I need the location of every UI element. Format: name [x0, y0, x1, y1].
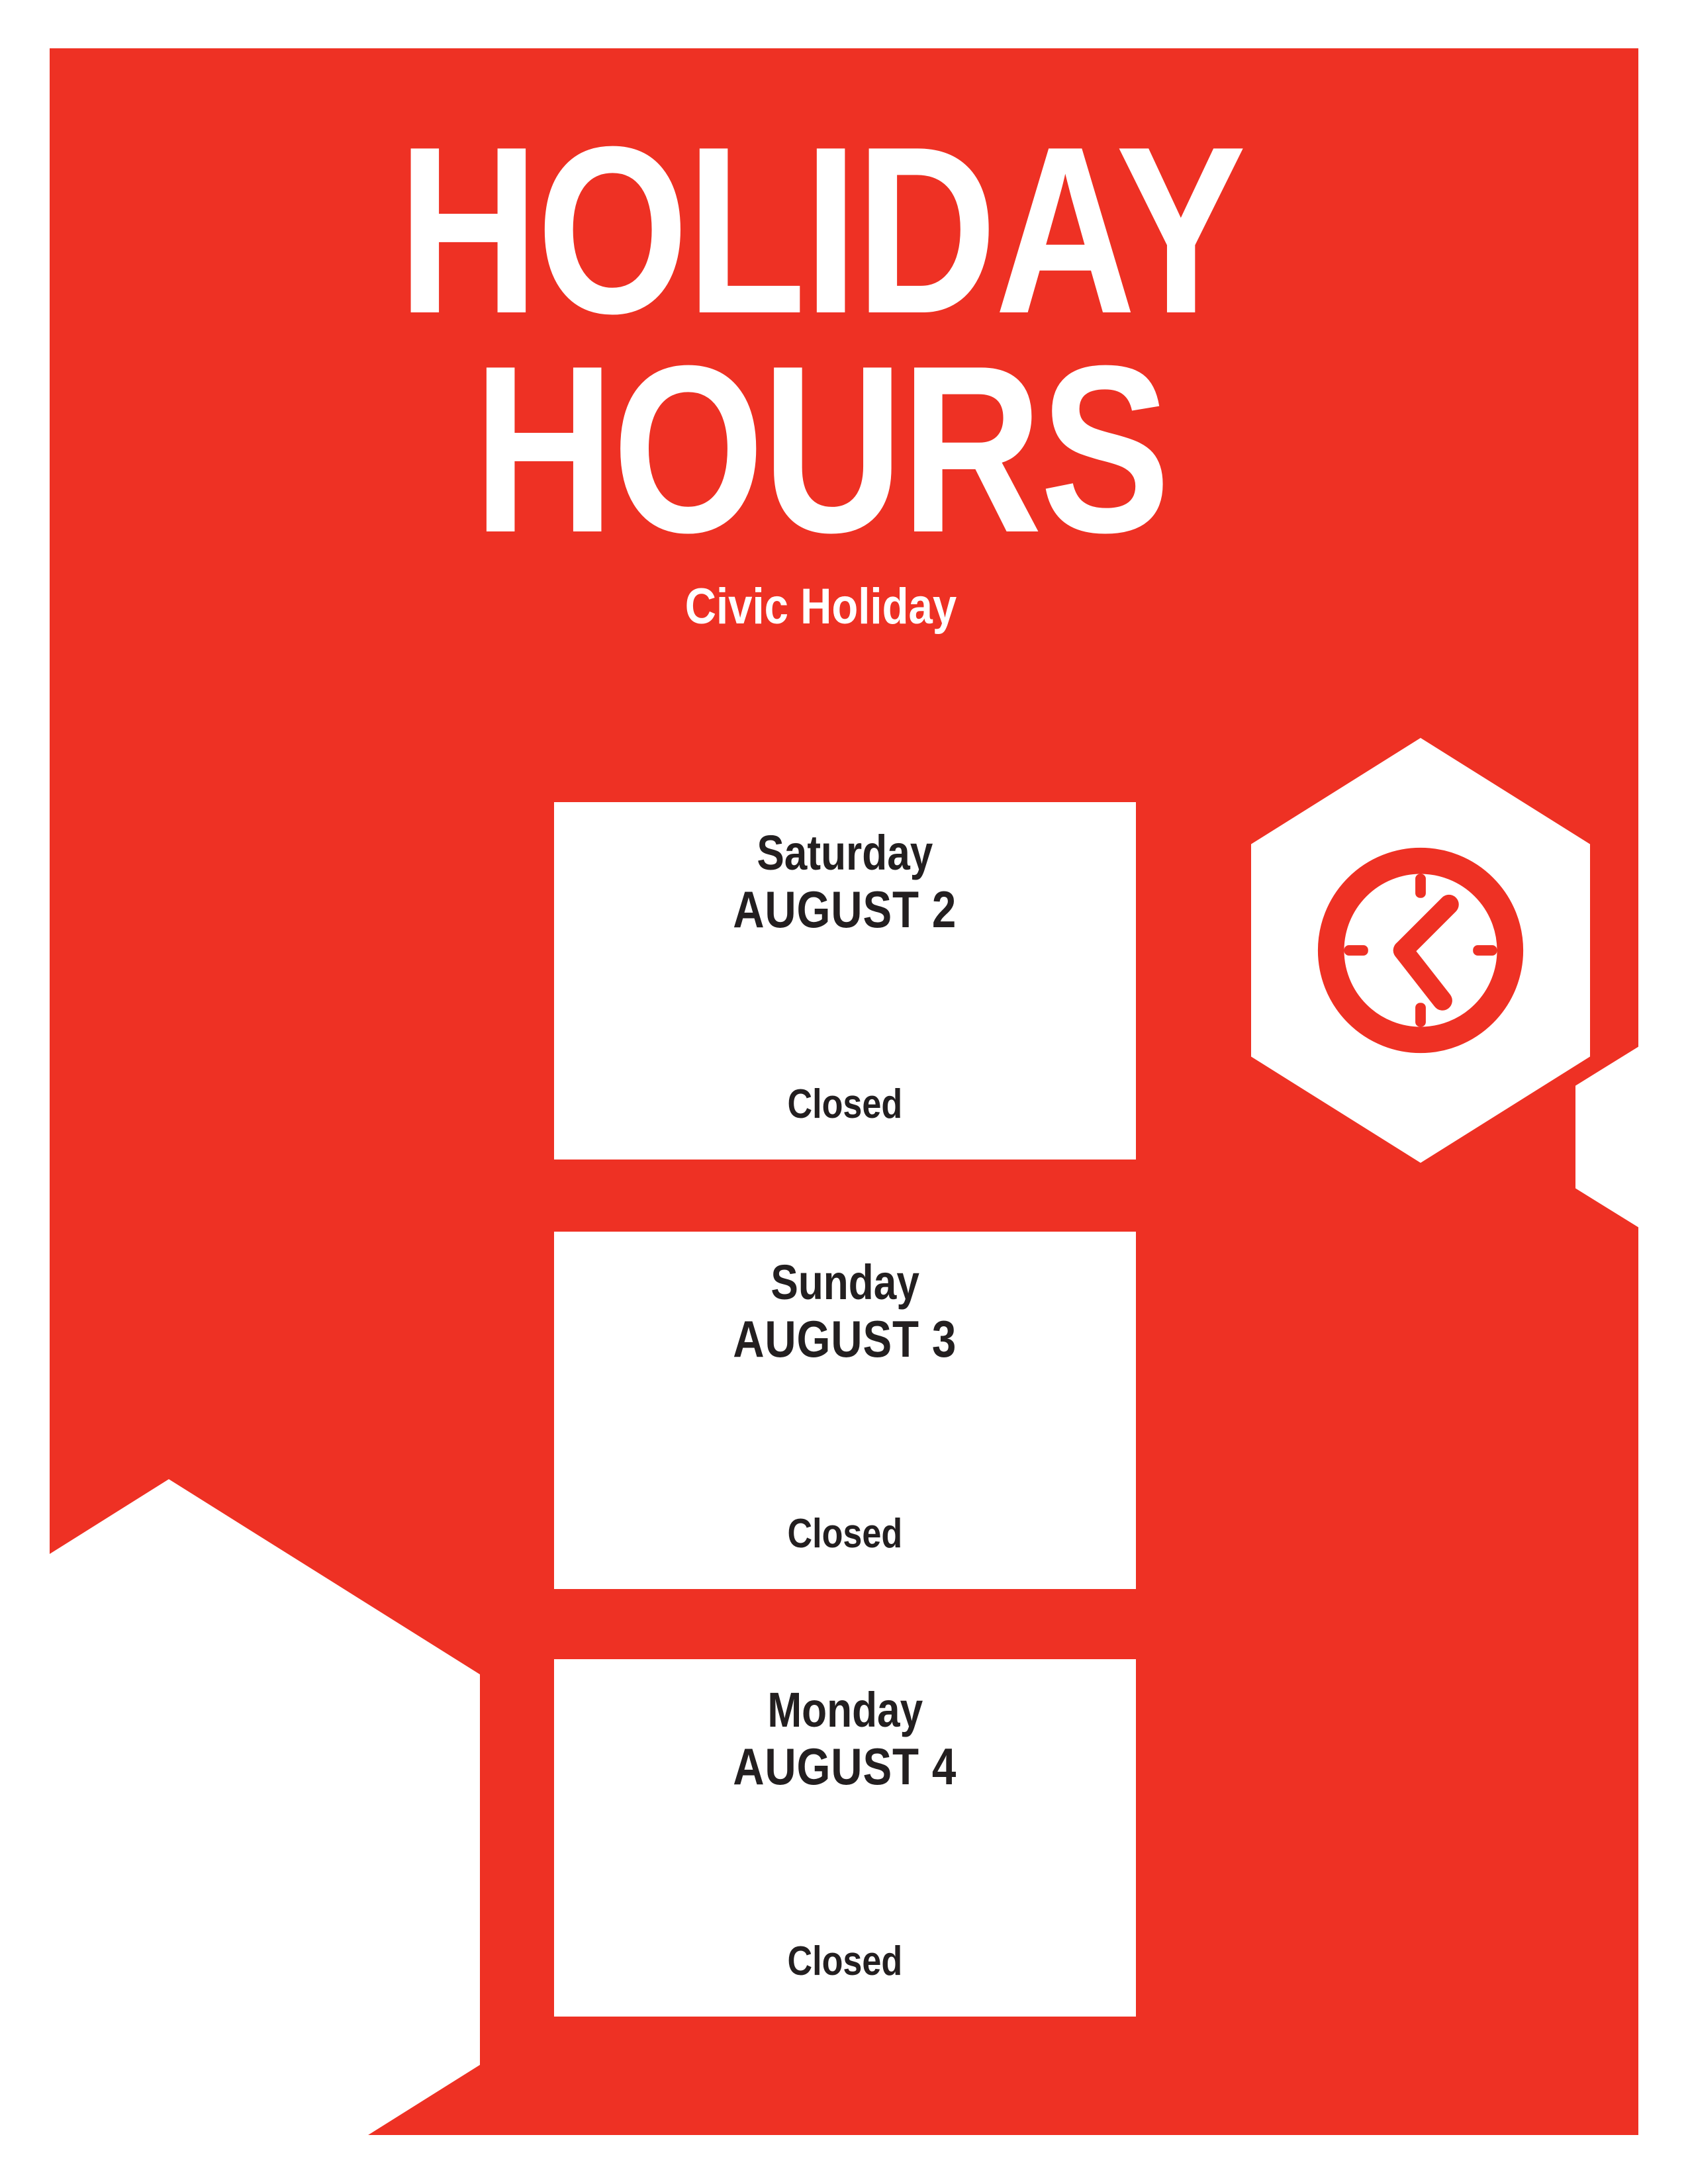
schedule-card-day: Sunday	[771, 1257, 919, 1308]
schedule-card-date: AUGUST 2	[733, 879, 957, 940]
hexagon-badge	[1251, 738, 1590, 1163]
schedule-card: Saturday AUGUST 2 Closed	[554, 802, 1136, 1160]
schedule-card: Monday AUGUST 4 Closed	[554, 1659, 1136, 2017]
schedule-card-day: Saturday	[757, 827, 933, 879]
hexagon-accent-large	[50, 1479, 480, 2135]
clock-icon	[1311, 841, 1530, 1060]
hexagon-accent-small	[1575, 1034, 1638, 1240]
schedule-card-status: Closed	[788, 1941, 903, 1982]
red-background-panel: HOLIDAY HOURS Civic Holiday	[50, 48, 1638, 2135]
schedule-card-date: AUGUST 3	[733, 1308, 957, 1369]
poster-title-line-1: HOLIDAY	[189, 121, 1454, 340]
schedule-card-date: AUGUST 4	[733, 1736, 957, 1797]
poster-header: HOLIDAY HOURS Civic Holiday	[50, 121, 1592, 632]
schedule-card-status: Closed	[788, 1084, 903, 1125]
poster-title-line-2: HOURS	[189, 340, 1454, 559]
poster-canvas: HOLIDAY HOURS Civic Holiday	[0, 0, 1688, 2184]
schedule-card: Sunday AUGUST 3 Closed	[554, 1232, 1136, 1589]
schedule-card-status: Closed	[788, 1514, 903, 1555]
schedule-card-day: Monday	[767, 1684, 923, 1736]
poster-subtitle: Civic Holiday	[158, 582, 1484, 632]
